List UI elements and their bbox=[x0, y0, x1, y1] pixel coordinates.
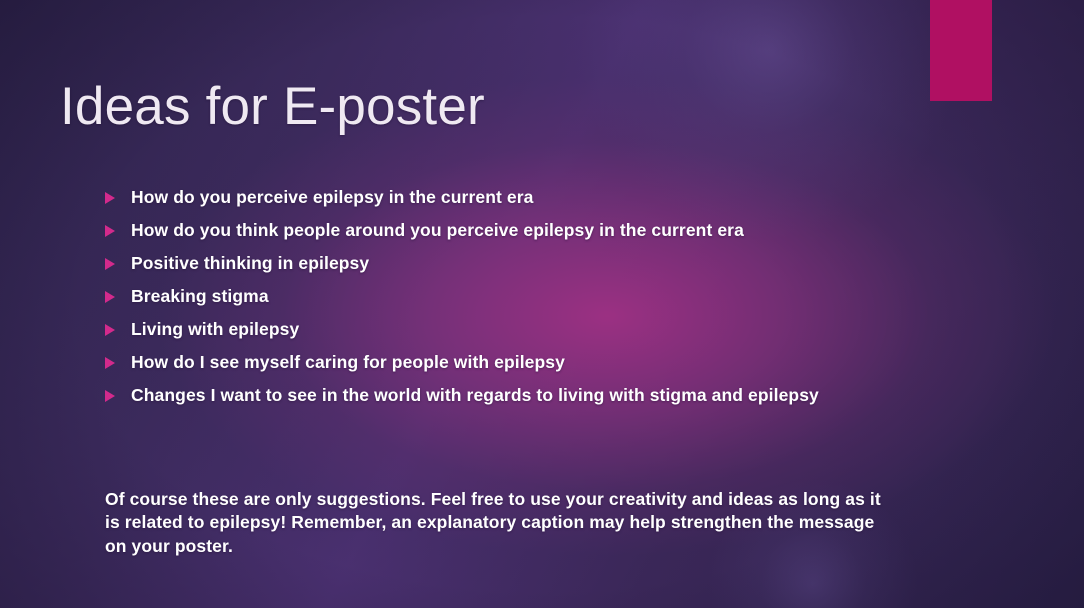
list-item: How do I see myself caring for people wi… bbox=[105, 351, 925, 375]
list-item: How do you think people around you perce… bbox=[105, 219, 925, 243]
triangle-bullet-icon bbox=[105, 219, 131, 237]
list-item-label: How do you think people around you perce… bbox=[131, 219, 744, 243]
triangle-bullet-icon bbox=[105, 252, 131, 270]
list-item-label: Changes I want to see in the world with … bbox=[131, 384, 819, 408]
list-item: How do you perceive epilepsy in the curr… bbox=[105, 186, 925, 210]
triangle-bullet-icon bbox=[105, 186, 131, 204]
list-item: Changes I want to see in the world with … bbox=[105, 384, 925, 408]
list-item-label: Living with epilepsy bbox=[131, 318, 299, 342]
accent-rectangle bbox=[930, 0, 992, 101]
list-item-label: Breaking stigma bbox=[131, 285, 269, 309]
list-item-label: Positive thinking in epilepsy bbox=[131, 252, 369, 276]
triangle-bullet-icon bbox=[105, 318, 131, 336]
page-title: Ideas for E-poster bbox=[60, 76, 485, 137]
triangle-bullet-icon bbox=[105, 384, 131, 402]
closing-note: Of course these are only suggestions. Fe… bbox=[105, 488, 895, 559]
list-item-label: How do I see myself caring for people wi… bbox=[131, 351, 565, 375]
triangle-bullet-icon bbox=[105, 285, 131, 303]
list-item: Living with epilepsy bbox=[105, 318, 925, 342]
presentation-slide: Ideas for E-poster How do you perceive e… bbox=[0, 0, 1084, 608]
list-item: Breaking stigma bbox=[105, 285, 925, 309]
bullet-list: How do you perceive epilepsy in the curr… bbox=[105, 186, 925, 417]
triangle-bullet-icon bbox=[105, 351, 131, 369]
list-item-label: How do you perceive epilepsy in the curr… bbox=[131, 186, 533, 210]
list-item: Positive thinking in epilepsy bbox=[105, 252, 925, 276]
